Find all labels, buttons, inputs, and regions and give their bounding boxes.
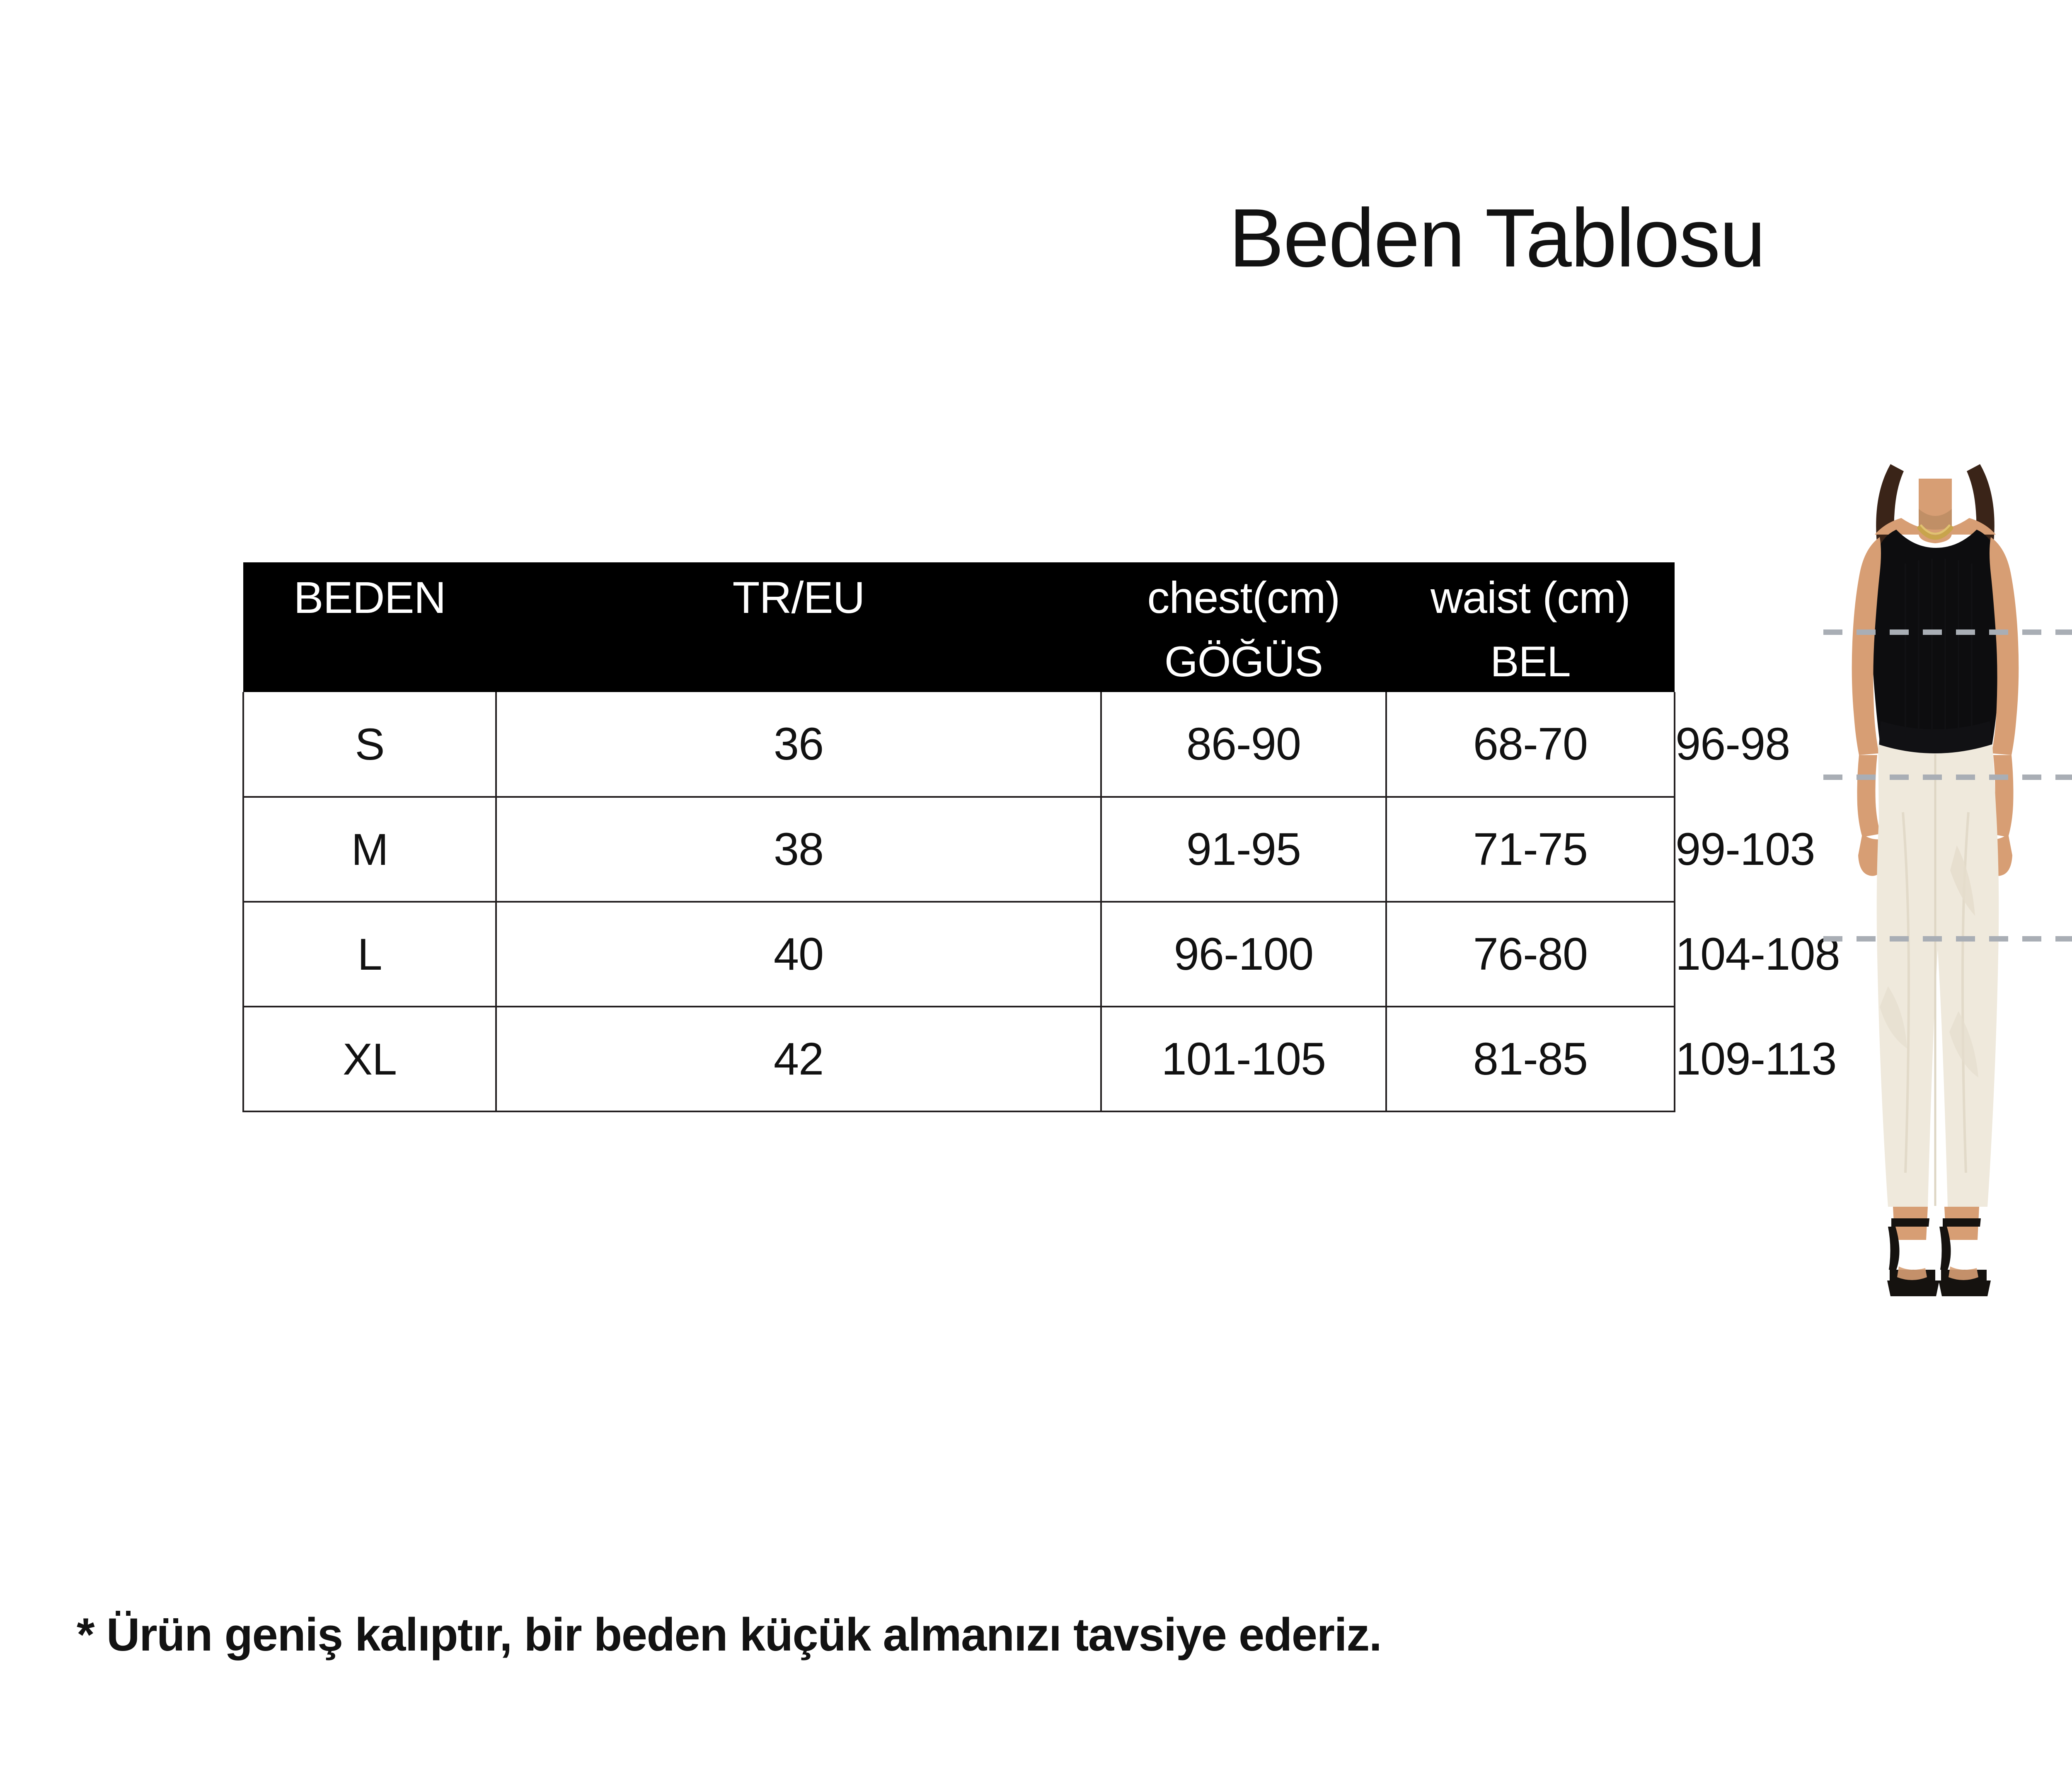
table-row: L 40 96-100 76-80 104-108 xyxy=(243,902,1675,1007)
header-beden: BEDEN xyxy=(243,562,496,632)
model-photo xyxy=(1794,439,2072,1612)
cell-waist: 68-70 xyxy=(1386,692,1675,797)
cell-treu: 36 xyxy=(496,692,1101,797)
header-beden-tr xyxy=(243,632,496,692)
size-chart-page: Beden Tablosu BEDEN TR/EU chest(cm) wais… xyxy=(0,0,2072,1784)
cell-beden: XL xyxy=(243,1007,496,1111)
footnote-text: * Ürün geniş kalıptır, bir beden küçük a… xyxy=(77,1608,1381,1661)
table-row: S 36 86-90 68-70 96-98 xyxy=(243,692,1675,797)
waist-measure-arrow-icon xyxy=(1823,769,2072,785)
cell-beden: L xyxy=(243,902,496,1007)
cell-chest: 86-90 xyxy=(1101,692,1386,797)
header-chest: chest(cm) xyxy=(1101,562,1386,632)
header-waist: waist (cm) xyxy=(1386,562,1675,632)
header-treu-tr xyxy=(496,632,1101,692)
header-gogus: GÖĞÜS xyxy=(1101,632,1386,692)
table-row: M 38 91-95 71-75 99-103 xyxy=(243,797,1675,902)
dashed-line xyxy=(1823,936,2072,942)
dashed-line xyxy=(1823,775,2072,780)
table-row: XL 42 101-105 81-85 109-113 xyxy=(243,1007,1675,1111)
cell-chest: 96-100 xyxy=(1101,902,1386,1007)
cell-waist: 76-80 xyxy=(1386,902,1675,1007)
cell-treu: 42 xyxy=(496,1007,1101,1111)
cell-chest: 91-95 xyxy=(1101,797,1386,902)
chest-measure-arrow-icon xyxy=(1823,624,2072,640)
cell-chest: 101-105 xyxy=(1101,1007,1386,1111)
hip-measure-arrow-icon xyxy=(1823,930,2072,947)
cell-waist: 71-75 xyxy=(1386,797,1675,902)
size-table: BEDEN TR/EU chest(cm) waist (cm) high (c… xyxy=(242,562,1675,1112)
header-bel: BEL xyxy=(1386,632,1675,692)
model-illustration-svg xyxy=(1794,439,2072,1612)
size-table-container: BEDEN TR/EU chest(cm) waist (cm) high (c… xyxy=(242,562,1675,1112)
cell-treu: 38 xyxy=(496,797,1101,902)
size-table-header: BEDEN TR/EU chest(cm) waist (cm) high (c… xyxy=(243,562,1675,692)
page-title: Beden Tablosu xyxy=(0,195,2072,282)
cell-beden: M xyxy=(243,797,496,902)
header-treu: TR/EU xyxy=(496,562,1101,632)
dashed-line xyxy=(1823,629,2072,635)
size-table-body: S 36 86-90 68-70 96-98 M 38 91-95 71-75 … xyxy=(243,692,1675,1111)
header-row-secondary: GÖĞÜS BEL BASEN xyxy=(243,632,1675,692)
header-row-primary: BEDEN TR/EU chest(cm) waist (cm) high (c… xyxy=(243,562,1675,632)
cell-treu: 40 xyxy=(496,902,1101,1007)
cell-beden: S xyxy=(243,692,496,797)
cell-waist: 81-85 xyxy=(1386,1007,1675,1111)
